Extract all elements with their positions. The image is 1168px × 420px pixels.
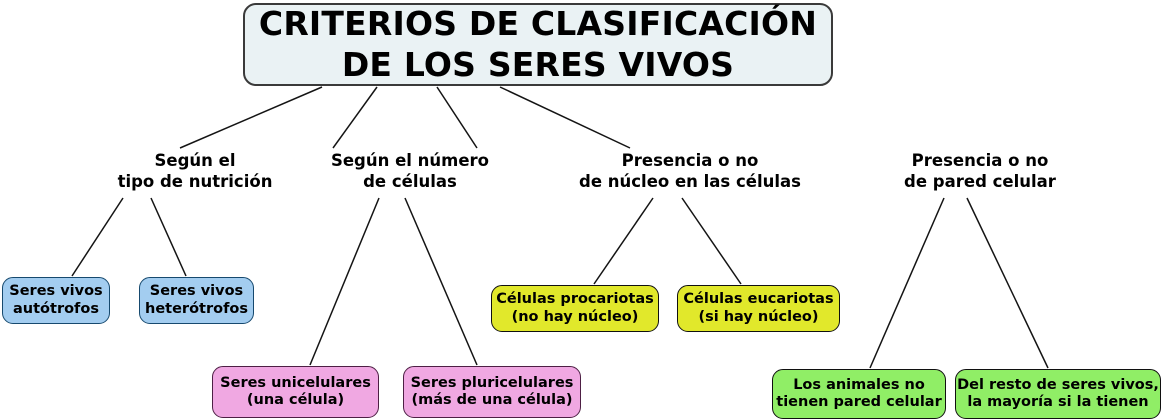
celulas-to-pluricelulares: [405, 198, 477, 365]
diagram-title-box: CRITERIOS DE CLASIFICACIÓN DE LOS SERES …: [243, 3, 833, 86]
criterion-text: Presencia o no de núcleo en las células: [579, 150, 801, 193]
title-to-nutricion: [180, 87, 322, 148]
nucleo-to-procariotas: [594, 198, 653, 284]
criterion-label-nucleo: Presencia o no de núcleo en las células: [525, 150, 855, 193]
leaf-box-unicelulares: Seres unicelulares (una célula): [212, 366, 379, 418]
leaf-text: Seres unicelulares (una célula): [220, 375, 371, 409]
leaf-box-pluricelulares: Seres pluricelulares (más de una célula): [403, 366, 581, 418]
leaf-text: Células procariotas (no hay núcleo): [496, 291, 654, 325]
leaf-box-animales-sin-pared: Los animales no tienen pared celular: [772, 369, 946, 419]
pared-to-resto: [967, 198, 1048, 368]
criterion-text: Presencia o no de pared celular: [904, 150, 1056, 193]
leaf-box-resto-con-pared: Del resto de seres vivos, la mayoría si …: [955, 369, 1161, 419]
leaf-text: Seres vivos heterótrofos: [145, 283, 248, 317]
nutricion-to-autotrofos: [72, 198, 123, 276]
criterion-text: Según el tipo de nutrición: [118, 150, 273, 193]
diagram-title-text: CRITERIOS DE CLASIFICACIÓN DE LOS SERES …: [259, 4, 817, 85]
criterion-label-numero-celulas: Según el número de células: [275, 150, 545, 193]
leaf-text: Seres pluricelulares (más de una célula): [411, 375, 574, 409]
nutricion-to-heterotrofos: [151, 198, 186, 276]
title-to-celulas: [333, 87, 377, 148]
leaf-box-heterotrofos: Seres vivos heterótrofos: [139, 277, 254, 324]
leaf-text: Seres vivos autótrofos: [9, 283, 102, 317]
title-to-pared: [500, 87, 630, 148]
nucleo-to-eucariotas: [682, 198, 741, 284]
criterion-label-pared-celular: Presencia o no de pared celular: [835, 150, 1125, 193]
leaf-text: Células eucariotas (si hay núcleo): [683, 291, 833, 325]
leaf-box-procariotas: Células procariotas (no hay núcleo): [491, 285, 659, 332]
leaf-box-autotrofos: Seres vivos autótrofos: [2, 277, 110, 324]
classification-diagram: CRITERIOS DE CLASIFICACIÓN DE LOS SERES …: [0, 0, 1168, 420]
leaf-text: Del resto de seres vivos, la mayoría si …: [957, 377, 1159, 411]
criterion-text: Según el número de células: [331, 150, 489, 193]
leaf-text: Los animales no tienen pared celular: [776, 377, 941, 411]
title-to-nucleo: [437, 87, 477, 148]
celulas-to-unicelulares: [310, 198, 379, 365]
leaf-box-eucariotas: Células eucariotas (si hay núcleo): [677, 285, 840, 332]
pared-to-animales: [870, 198, 944, 368]
